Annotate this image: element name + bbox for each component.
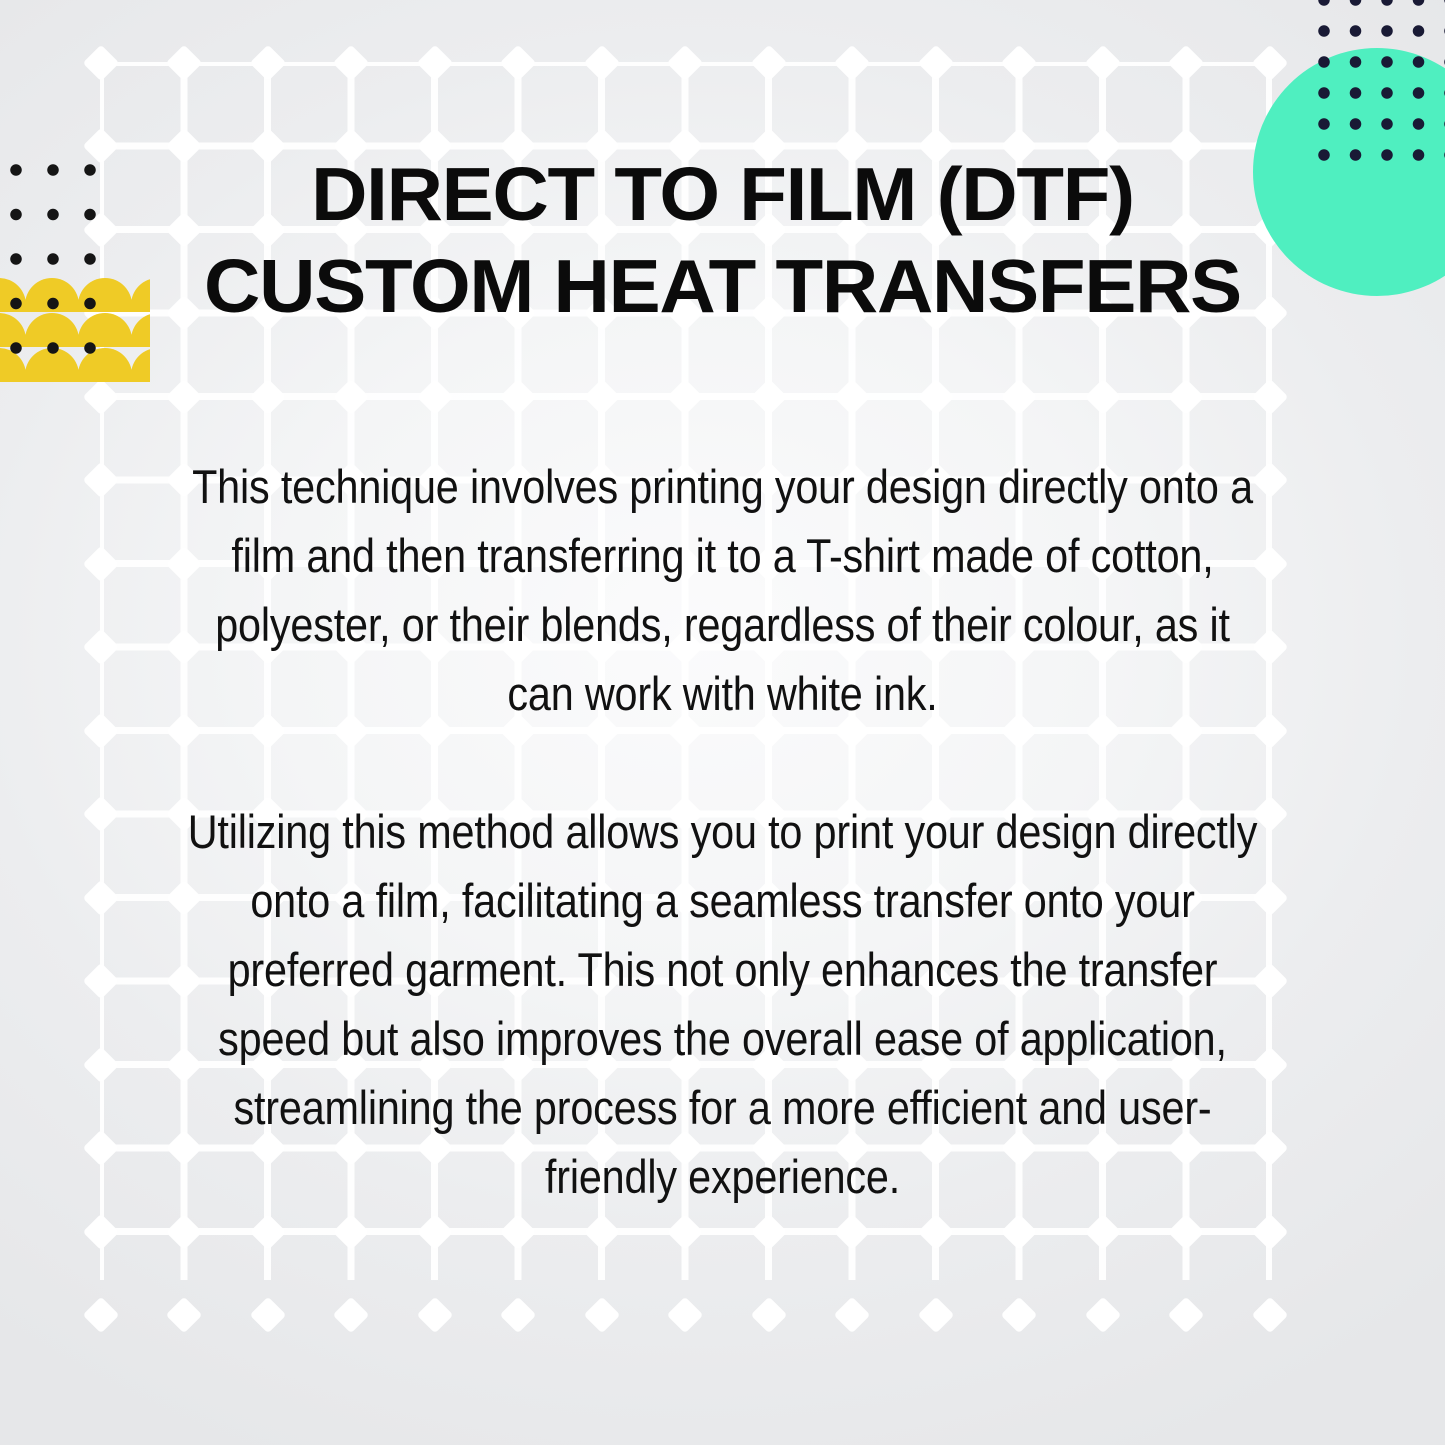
paragraph-2-line-6: friendly experience. (166, 1142, 1279, 1211)
paragraph-1-line-3: polyester, or their blends, regardless o… (166, 590, 1279, 659)
title-line-2: CUSTOM HEAT TRANSFERS (0, 240, 1445, 332)
paragraph-1-line-4: can work with white ink. (166, 659, 1279, 728)
poster-content: DIRECT TO FILM (DTF) CUSTOM HEAT TRANSFE… (0, 0, 1445, 1445)
paragraph-2-line-2: onto a film, facilitating a seamless tra… (166, 866, 1279, 935)
paragraph-1-line-1: This technique involves printing your de… (166, 452, 1279, 521)
paragraph-1-line-2: film and then transferring it to a T-shi… (166, 521, 1279, 590)
title-line-1: DIRECT TO FILM (DTF) (0, 148, 1445, 240)
paragraph-2-line-4: speed but also improves the overall ease… (166, 1004, 1279, 1073)
paragraph-2-line-1: Utilizing this method allows you to prin… (166, 797, 1279, 866)
body-copy: This technique involves printing your de… (90, 452, 1355, 1211)
paragraph-1: This technique involves printing your de… (166, 452, 1279, 728)
poster-canvas: DIRECT TO FILM (DTF) CUSTOM HEAT TRANSFE… (0, 0, 1445, 1445)
paragraph-2: Utilizing this method allows you to prin… (166, 797, 1279, 1211)
paragraph-2-line-5: streamlining the process for a more effi… (166, 1073, 1279, 1142)
page-title: DIRECT TO FILM (DTF) CUSTOM HEAT TRANSFE… (0, 148, 1445, 332)
paragraph-2-line-3: preferred garment. This not only enhance… (166, 935, 1279, 1004)
